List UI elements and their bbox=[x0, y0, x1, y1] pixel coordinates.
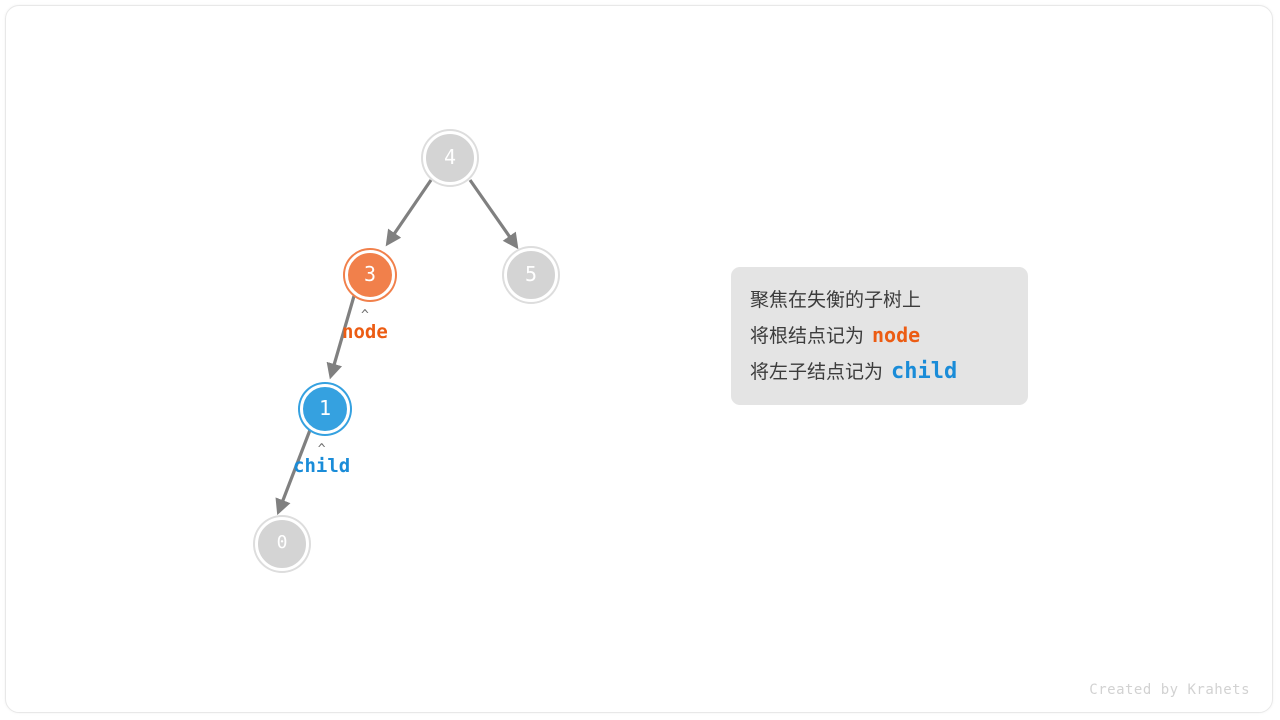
info-line-3-code: child bbox=[883, 359, 957, 384]
tree-node-4-value: 4 bbox=[444, 147, 456, 167]
info-line-1: 聚焦在失衡的子树上 bbox=[750, 285, 1028, 321]
credit-text: Created by Krahets bbox=[1089, 682, 1250, 698]
info-line-2: 将根结点记为 node bbox=[750, 321, 1028, 357]
node-pointer-annotation: ^ node bbox=[342, 312, 388, 342]
tree-node-5-value: 5 bbox=[525, 264, 537, 284]
tree-node-5[interactable]: 5 bbox=[504, 248, 558, 302]
node-pointer-label: node bbox=[342, 322, 388, 342]
info-box: 聚焦在失衡的子树上 将根结点记为 node 将左子结点记为 child bbox=[731, 267, 1028, 405]
tree-node-0-value: 0 bbox=[277, 534, 288, 552]
tree-node-4[interactable]: 4 bbox=[423, 131, 477, 185]
info-line-2-code: node bbox=[864, 323, 920, 347]
diagram-card bbox=[5, 5, 1273, 713]
info-line-3: 将左子结点记为 child bbox=[750, 357, 1028, 393]
child-pointer-annotation: ^ child bbox=[293, 446, 350, 476]
info-line-2-text: 将根结点记为 bbox=[750, 321, 864, 348]
info-line-1-text: 聚焦在失衡的子树上 bbox=[750, 285, 921, 312]
child-pointer-label: child bbox=[293, 456, 350, 476]
info-line-3-text: 将左子结点记为 bbox=[750, 357, 883, 384]
tree-node-1-value: 1 bbox=[319, 398, 331, 418]
tree-node-1[interactable]: 1 bbox=[300, 384, 350, 434]
tree-node-0[interactable]: 0 bbox=[255, 517, 309, 571]
tree-node-3[interactable]: 3 bbox=[345, 250, 395, 300]
tree-node-3-value: 3 bbox=[364, 264, 376, 284]
diagram-canvas: 4 3 5 1 0 ^ node ^ child 聚焦在失衡的子树上 将根结点记… bbox=[0, 0, 1280, 720]
